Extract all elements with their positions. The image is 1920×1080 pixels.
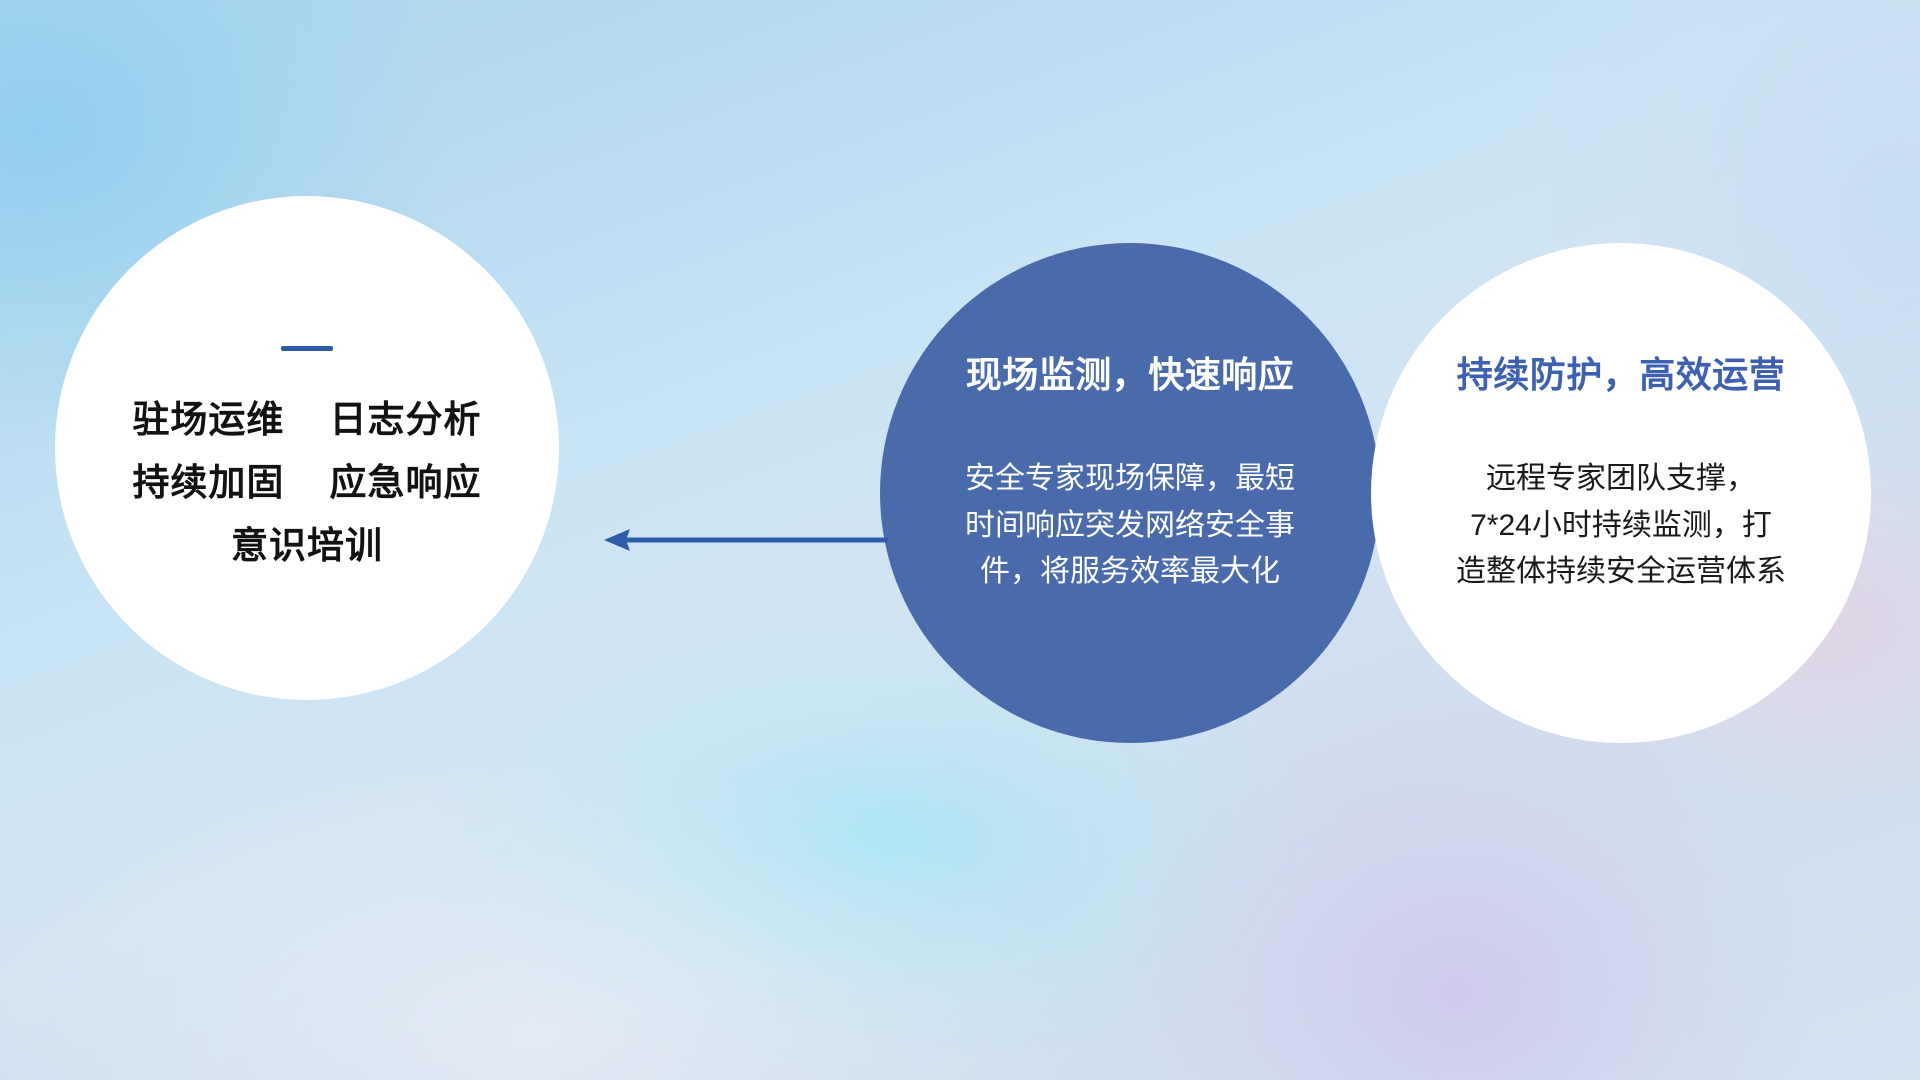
right-circle-body-text: 远程专家团队支撑，7*24小时持续监测，打造整体持续安全运营体系 — [1456, 456, 1786, 596]
keyword-line-1: 驻场运维 日志分析 — [132, 401, 481, 440]
right-circle-content: 持续防护，高效运营 远程专家团队支撑，7*24小时持续监测，打造整体持续安全运营… — [1371, 243, 1871, 743]
accent-divider-line — [281, 346, 333, 351]
left-keywords-list: 驻场运维 日志分析 持续加固 应急响应 意识培训 — [132, 401, 481, 566]
keyword-line-3: 意识培训 — [231, 527, 383, 566]
left-keywords-circle: 驻场运维 日志分析 持续加固 应急响应 意识培训 — [55, 196, 559, 700]
middle-circle-body-text: 安全专家现场保障，最短时间响应突发网络安全事件，将服务效率最大化 — [965, 456, 1295, 596]
keyword-line-2: 持续加固 应急响应 — [132, 464, 481, 503]
middle-blue-circle: 现场监测，快速响应 安全专家现场保障，最短时间响应突发网络安全事件，将服务效率最… — [880, 243, 1380, 743]
middle-circle-content: 现场监测，快速响应 安全专家现场保障，最短时间响应突发网络安全事件，将服务效率最… — [880, 243, 1380, 743]
flow-arrow-left-icon — [600, 520, 890, 560]
slide-canvas: 驻场运维 日志分析 持续加固 应急响应 意识培训 现场监测，快速响应 安全专家现… — [0, 0, 1920, 1080]
right-circle-title: 持续防护，高效运营 — [1457, 353, 1786, 396]
right-white-circle: 持续防护，高效运营 远程专家团队支撑，7*24小时持续监测，打造整体持续安全运营… — [1371, 243, 1871, 743]
